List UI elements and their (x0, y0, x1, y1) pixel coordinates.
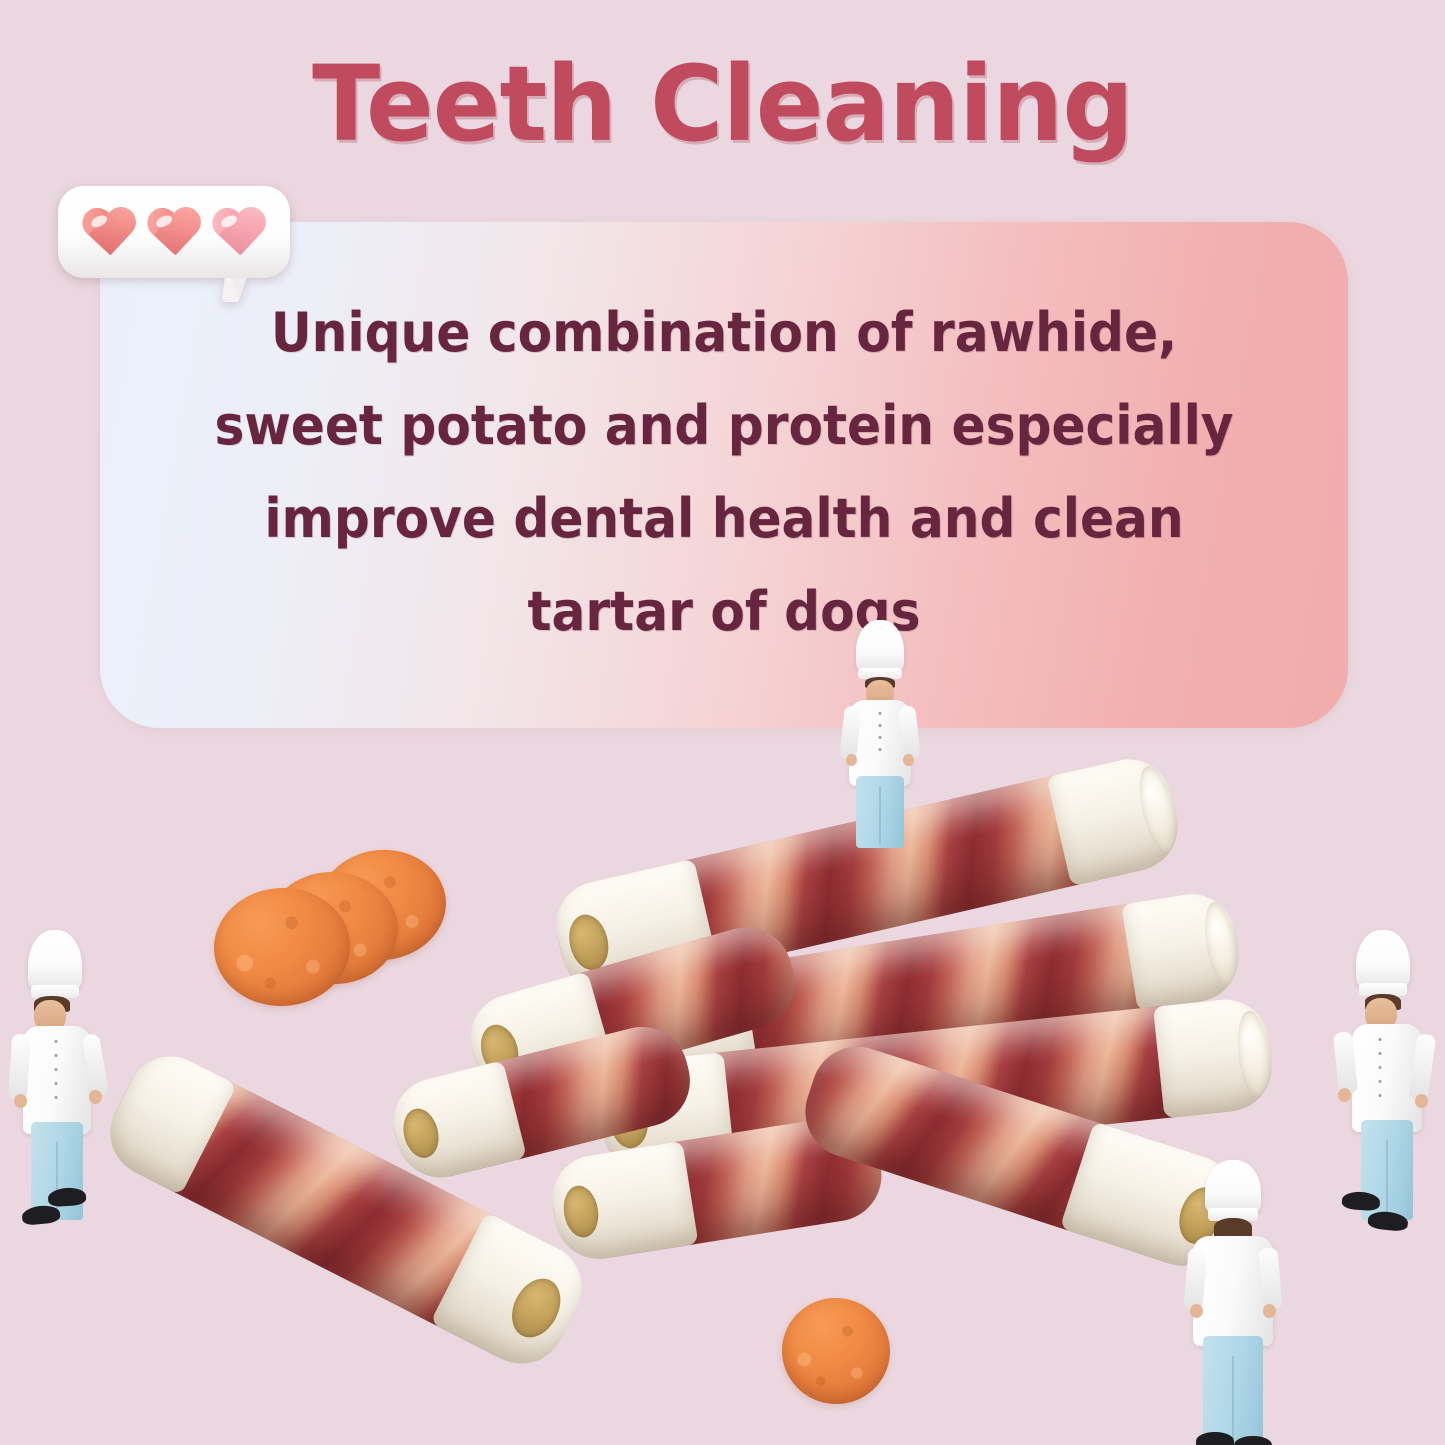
rawhide-end (1060, 1121, 1247, 1277)
chef-button (54, 1096, 57, 1099)
rawhide-end (460, 971, 615, 1105)
meat-wrap (384, 1017, 699, 1187)
chef-arm-right (1258, 1247, 1282, 1310)
rawhide-cut-face (1200, 900, 1241, 987)
heart-gloss-icon (219, 213, 239, 230)
chef-hat-icon (1205, 1160, 1261, 1214)
rawhide-end (1046, 751, 1186, 887)
chef-leg-split (1232, 1356, 1234, 1442)
sweet-potato-core (475, 1020, 524, 1080)
chef-coat (1193, 1236, 1273, 1346)
chef-shoe-right (1234, 1436, 1272, 1445)
chef-button (1378, 1066, 1381, 1069)
chef-hand-back (1415, 1094, 1428, 1108)
sweet-potato-core (1172, 1182, 1228, 1250)
heart-icon (209, 204, 269, 260)
chef-button (879, 748, 882, 751)
chef-hand-right (1263, 1304, 1276, 1318)
chef-leg-split (879, 786, 881, 844)
rawhide-end (546, 1141, 699, 1265)
sweet-potato-core (398, 1105, 443, 1162)
rawhide-end (1121, 888, 1245, 1012)
rawhide-end (1153, 995, 1276, 1118)
sweet-potato-slice (775, 1291, 897, 1411)
rawhide-end (596, 1052, 735, 1177)
chef-shoe-right (47, 1187, 86, 1208)
rawhide-end (384, 1060, 527, 1187)
chef-shoe-left (21, 1204, 61, 1226)
chef-shoe-right (1367, 1210, 1409, 1232)
chef-figurine-bottom-right (1168, 1160, 1298, 1445)
chew-stick-foreground (95, 1041, 597, 1378)
chef-leg-split (56, 1142, 58, 1214)
chef-hat-band (31, 985, 79, 998)
rawhide-cut-face (1133, 763, 1182, 855)
meat-wrap (793, 1035, 1246, 1277)
sweet-potato-slice (264, 868, 401, 989)
rawhide-end (430, 1212, 597, 1379)
sweet-potato-core (560, 1183, 602, 1240)
heart-icon (144, 204, 204, 260)
heart-gloss-icon (89, 213, 109, 230)
feature-callout-text: Unique combination of rawhide, sweet pot… (192, 287, 1256, 659)
product-infographic: Teeth Cleaning Unique combination of raw… (0, 0, 1445, 1445)
chef-pants (1203, 1336, 1263, 1445)
chef-hand-right (903, 754, 914, 766)
chef-button (54, 1082, 57, 1085)
three-hearts-badge (58, 186, 296, 304)
chef-hand-front (1338, 1088, 1351, 1102)
chew-stick (546, 1111, 888, 1265)
meat-wrap (596, 995, 1276, 1177)
chef-hat-icon (28, 930, 82, 990)
chef-head (34, 1000, 66, 1032)
rawhide-end (547, 859, 718, 1002)
chef-hand-front (14, 1094, 27, 1108)
chew-stick (596, 995, 1276, 1177)
chew-stick (460, 916, 805, 1105)
chef-hat-icon (1356, 930, 1410, 988)
chef-hand-left (846, 754, 857, 766)
chew-stick (623, 888, 1244, 1090)
chef-arm-back (82, 1033, 110, 1097)
meat-wrap (546, 1111, 888, 1265)
chef-button (1378, 1094, 1381, 1097)
chef-button (879, 736, 882, 739)
chew-stick (547, 751, 1186, 1002)
chef-figurine-left (4, 930, 114, 1230)
chef-coat (1352, 1024, 1422, 1132)
chef-hair (34, 996, 70, 1012)
speech-bubble-icon (58, 186, 290, 278)
sweet-potato-slice (313, 844, 452, 967)
sweet-potato-core (564, 911, 614, 974)
chef-pants (31, 1122, 83, 1220)
chef-pants (1361, 1120, 1413, 1220)
chew-stick (384, 1017, 699, 1187)
chef-button (54, 1068, 57, 1071)
chef-head (1365, 998, 1397, 1030)
chef-button (54, 1054, 57, 1057)
chef-button (1378, 1052, 1381, 1055)
chef-button (54, 1040, 57, 1043)
chef-arm-back (1408, 1033, 1436, 1101)
chef-hand-back (89, 1090, 102, 1104)
chef-shoe-left (1341, 1191, 1380, 1212)
chew-stick (793, 1035, 1246, 1277)
chef-hat-band (1359, 983, 1407, 996)
heart-icon (79, 204, 139, 260)
chef-arm-left (1183, 1247, 1207, 1310)
page-title: Teeth Cleaning (29, 48, 1416, 160)
chef-hair (1365, 994, 1401, 1010)
chef-arm-front (8, 1033, 32, 1100)
chef-pants (856, 776, 904, 848)
heart-gloss-icon (154, 213, 174, 230)
chef-shoe-left (1196, 1432, 1234, 1445)
sweet-potato-core (636, 1004, 680, 1063)
rawhide-end (623, 965, 758, 1090)
rawhide-end (95, 1041, 237, 1195)
chef-button (1378, 1080, 1381, 1083)
meat-wrap (95, 1041, 597, 1378)
chef-button (1378, 1038, 1381, 1041)
meat-wrap (460, 916, 805, 1105)
meat-wrap (623, 888, 1244, 1090)
chef-figurine-right (1330, 930, 1440, 1230)
chef-hat-band (1208, 1208, 1258, 1221)
sweet-potato-core (503, 1270, 570, 1345)
sweet-potato-core (607, 1090, 651, 1150)
rawhide-cut-face (1234, 1009, 1273, 1098)
meat-wrap (547, 751, 1186, 1002)
chef-leg-split (1386, 1140, 1388, 1214)
chef-arm-front (1333, 1031, 1358, 1095)
chef-hair (1214, 1218, 1252, 1238)
chef-hand-left (1190, 1304, 1203, 1318)
chef-coat (23, 1026, 91, 1134)
sweet-potato-slice (211, 885, 353, 1010)
